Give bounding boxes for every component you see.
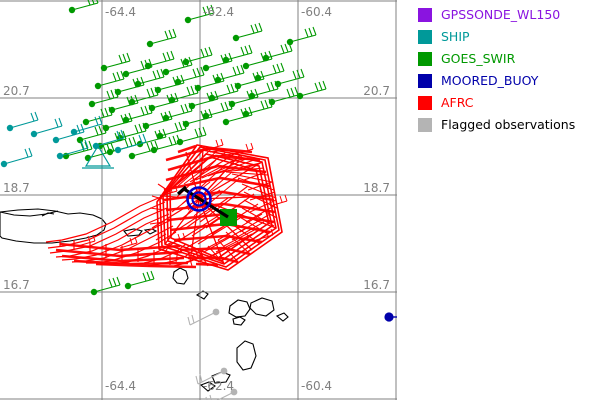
legend-swatch-ship: [418, 30, 432, 44]
ytick-right-2: 16.7: [330, 278, 390, 292]
legend-item-goes-swir[interactable]: GOES_SWIR: [418, 48, 598, 70]
xtick-top-1: -62.4: [203, 5, 234, 19]
ytick-left-1: 18.7: [3, 181, 30, 195]
legend-swatch-moored-buoy: [418, 74, 432, 88]
legend-item-moored-buoy[interactable]: MOORED_BUOY: [418, 70, 598, 92]
legend-label-flagged-observations: Flagged observations: [441, 118, 575, 132]
xtick-bottom-0: -64.4: [105, 379, 136, 393]
legend-item-afrc[interactable]: AFRC: [418, 92, 598, 114]
map-canvas[interactable]: [0, 0, 397, 400]
map-panel[interactable]: -64.4 -62.4 -60.4 -64.4 -62.4 -60.4 20.7…: [0, 0, 397, 400]
moored-buoy-east[interactable]: [384, 312, 397, 321]
legend-label-afrc: AFRC: [441, 96, 474, 110]
legend-label-moored-buoy: MOORED_BUOY: [441, 74, 538, 88]
observation-map-app: -64.4 -62.4 -60.4 -64.4 -62.4 -60.4 20.7…: [0, 0, 600, 400]
legend-swatch-afrc: [418, 96, 432, 110]
legend-label-goes-swir: GOES_SWIR: [441, 52, 515, 66]
legend-label-ship: SHIP: [441, 30, 470, 44]
afrc-observations[interactable]: [46, 139, 287, 270]
ytick-left-0: 20.7: [3, 84, 30, 98]
legend: GPSSONDE_WL150 SHIP GOES_SWIR MOORED_BUO…: [418, 4, 598, 136]
xtick-bottom-1: -62.4: [203, 379, 234, 393]
legend-swatch-flagged-observations: [418, 118, 432, 132]
legend-swatch-gpssonde-wl150: [418, 8, 432, 22]
legend-item-gpssonde-wl150[interactable]: GPSSONDE_WL150: [418, 4, 598, 26]
legend-item-flagged-observations[interactable]: Flagged observations: [418, 114, 598, 136]
legend-item-ship[interactable]: SHIP: [418, 26, 598, 48]
xtick-top-2: -60.4: [301, 5, 332, 19]
ytick-left-2: 16.7: [3, 278, 30, 292]
xtick-bottom-2: -60.4: [301, 379, 332, 393]
coastline-layer: [0, 209, 288, 391]
legend-swatch-goes-swir: [418, 52, 432, 66]
xtick-top-0: -64.4: [105, 5, 136, 19]
ytick-right-1: 18.7: [330, 181, 390, 195]
ytick-right-0: 20.7: [330, 84, 390, 98]
goes-swir-center-marker: [220, 209, 237, 226]
legend-label-gpssonde-wl150: GPSSONDE_WL150: [441, 8, 560, 22]
